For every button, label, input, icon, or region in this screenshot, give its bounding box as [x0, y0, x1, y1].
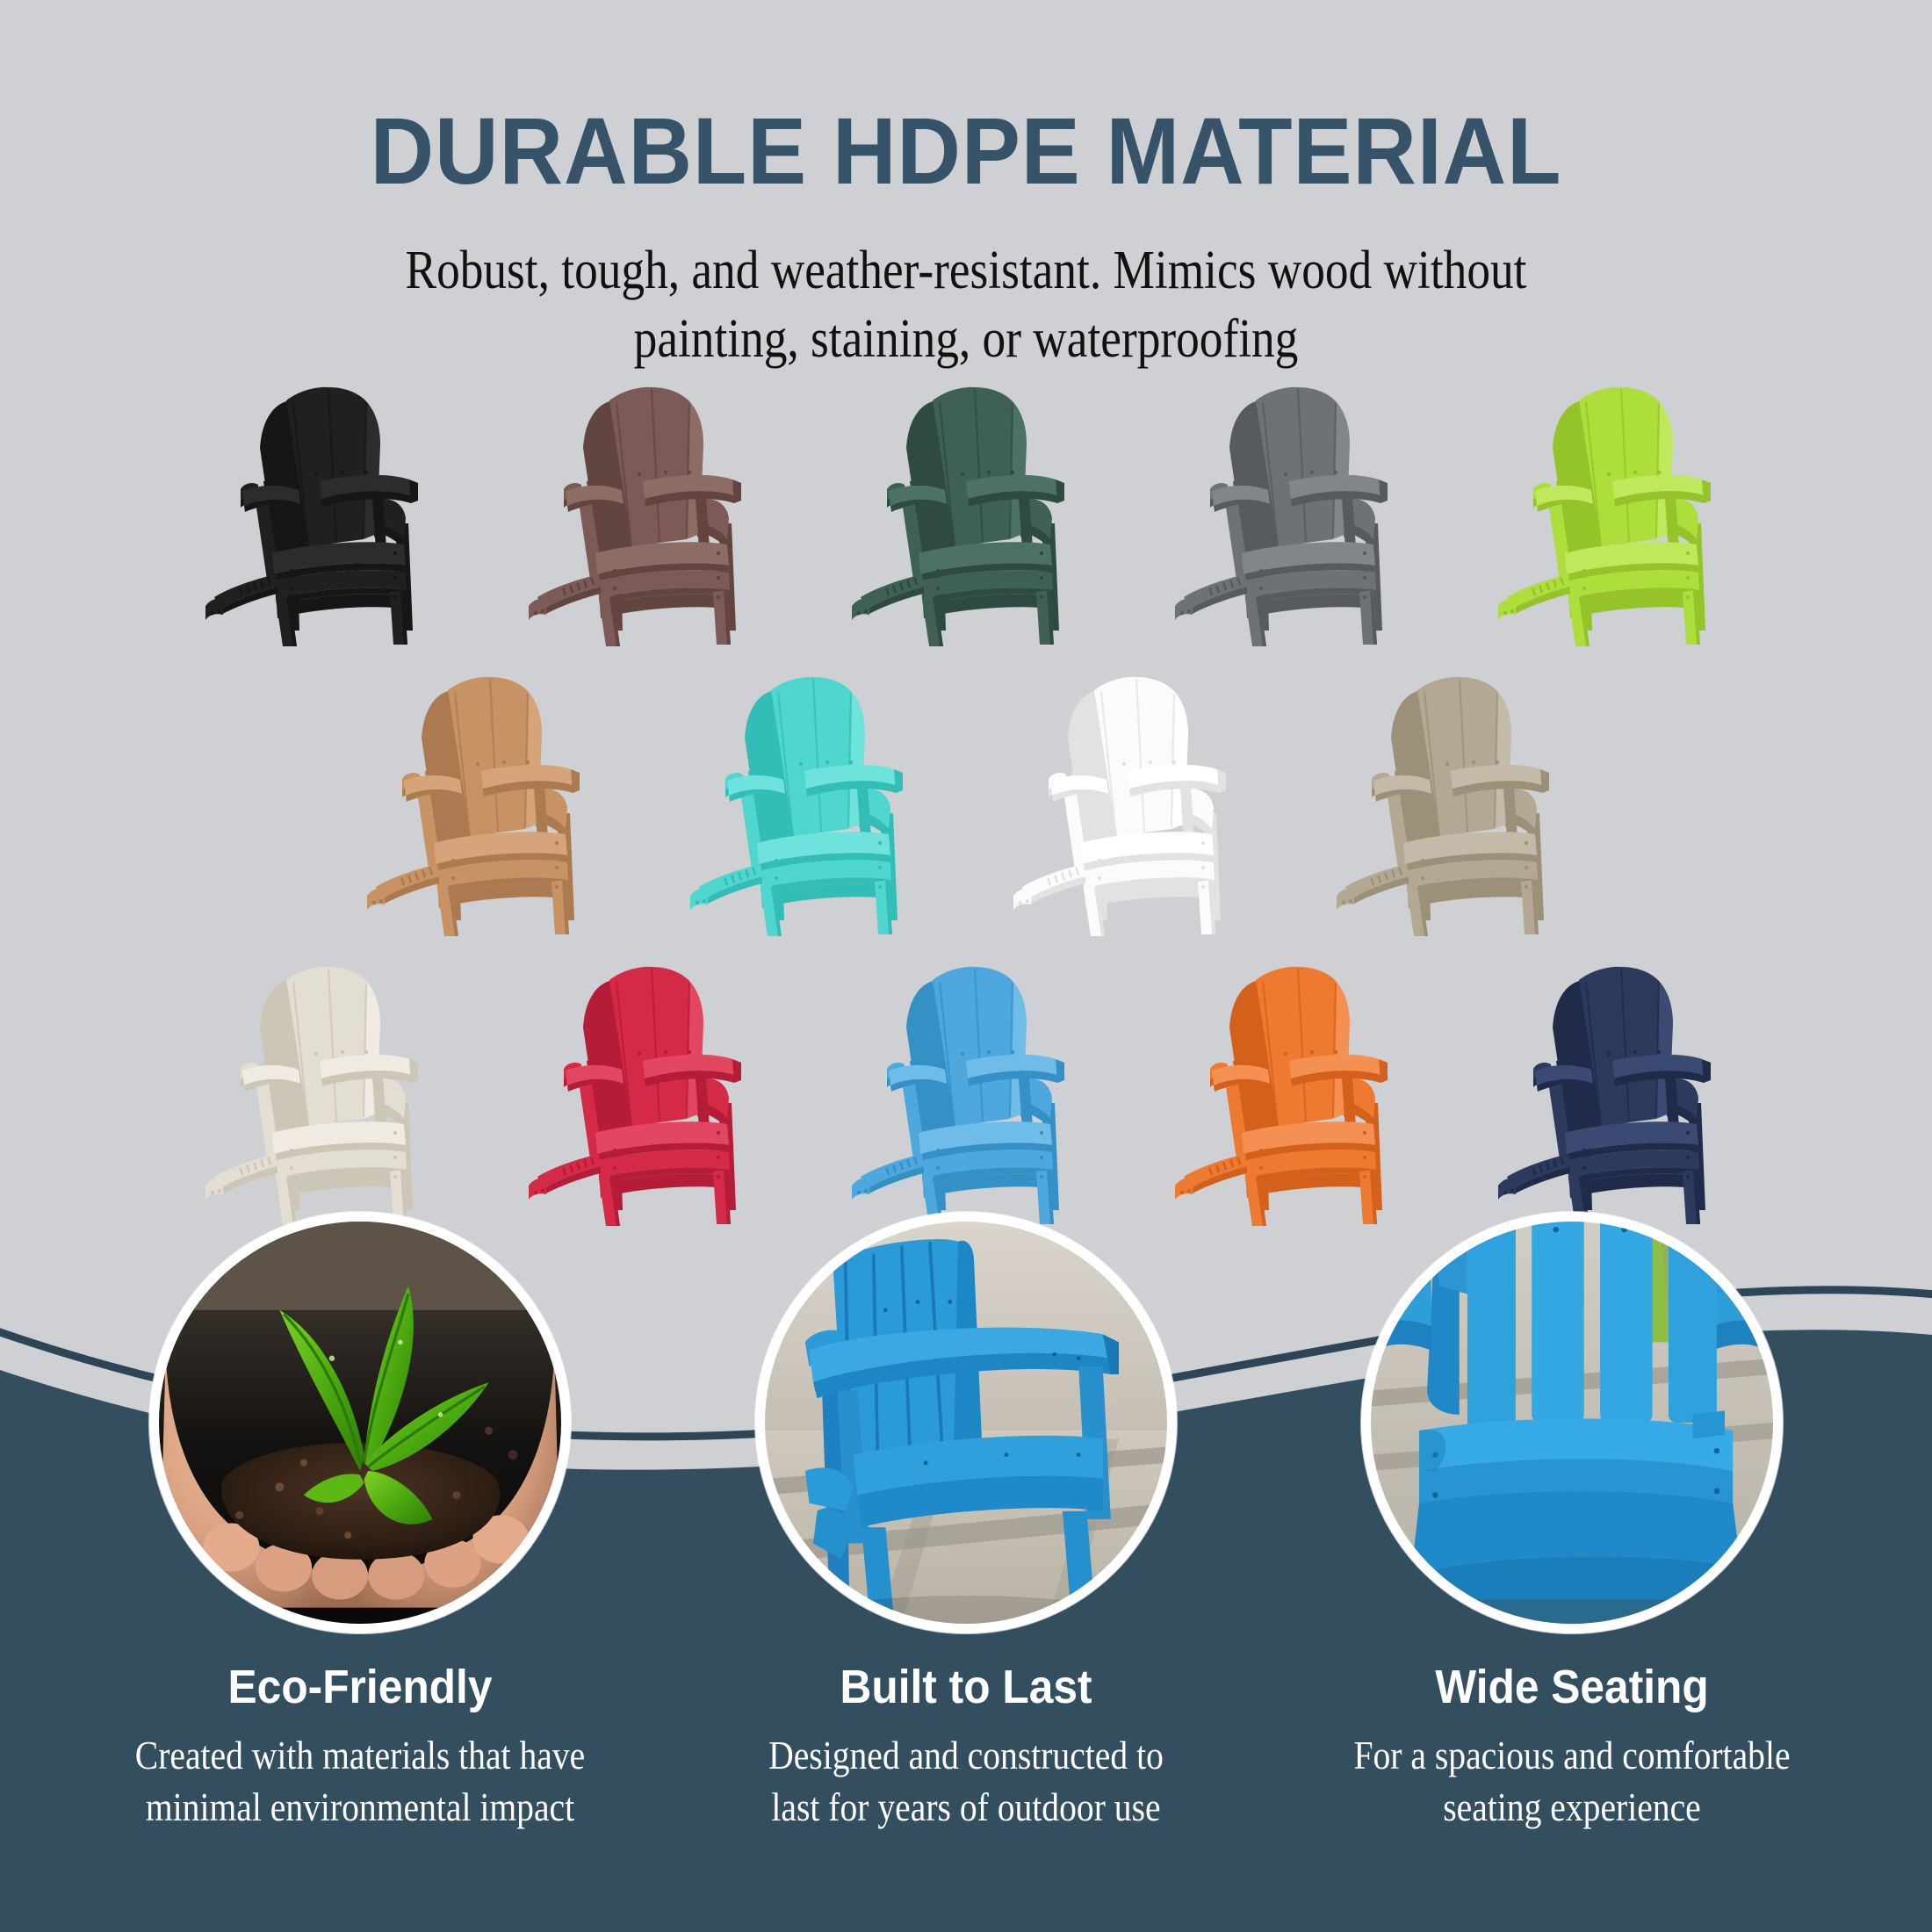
- chair-swatch-white[interactable]: [996, 657, 1259, 938]
- chair-swatch-orange[interactable]: [1157, 947, 1421, 1228]
- chair-swatch-light-blue[interactable]: [834, 947, 1098, 1228]
- chair-swatch-navy-blue[interactable]: [1481, 947, 1744, 1228]
- chair-color-grid: [0, 367, 1932, 1245]
- chair-swatch-dark-green[interactable]: [834, 367, 1098, 648]
- wide-seat-closeup-photo: [1371, 1222, 1773, 1624]
- chair-swatch-brown[interactable]: [511, 367, 775, 648]
- feature-description: For a spacious and comfortable seating e…: [1332, 1730, 1812, 1833]
- chair-swatch-ivory[interactable]: [188, 947, 451, 1228]
- feature-title: Built to Last: [716, 1660, 1216, 1714]
- feature-photo-frame: [149, 1212, 571, 1633]
- chair-row-2: [0, 657, 1932, 938]
- feature-title: Wide Seating: [1322, 1660, 1822, 1714]
- feature-description: Designed and constructed to last for yea…: [726, 1730, 1206, 1833]
- feature-photo-frame: [1361, 1212, 1783, 1633]
- feature-card-wide-seating: Wide Seating For a spacious and comforta…: [1300, 1212, 1844, 1833]
- chair-swatch-red[interactable]: [511, 947, 775, 1228]
- chair-swatch-teak[interactable]: [350, 657, 613, 938]
- chair-swatch-lime-green[interactable]: [1481, 367, 1744, 648]
- chair-swatch-gray[interactable]: [1157, 367, 1421, 648]
- feature-title: Eco-Friendly: [110, 1660, 610, 1714]
- chair-swatch-turquoise[interactable]: [673, 657, 936, 938]
- chair-swatch-black[interactable]: [188, 367, 451, 648]
- page-subtitle: Robust, tough, and weather-resistant. Mi…: [135, 198, 1797, 373]
- chair-row-3: [0, 947, 1932, 1228]
- header-section: DURABLE HDPE MATERIAL Robust, tough, and…: [0, 0, 1932, 351]
- features-section: Eco-Friendly Created with materials that…: [0, 1212, 1932, 1932]
- feature-card-eco-friendly: Eco-Friendly Created with materials that…: [88, 1212, 632, 1833]
- feature-card-built-to-last: Built to Last Designed and constructed t…: [694, 1212, 1238, 1833]
- feature-photo-frame: [755, 1212, 1177, 1633]
- feature-description: Created with materials that have minimal…: [120, 1730, 600, 1833]
- chair-swatch-taupe[interactable]: [1319, 657, 1582, 938]
- hands-seedling-photo: [159, 1222, 561, 1624]
- page-title: DURABLE HDPE MATERIAL: [68, 0, 1864, 198]
- chair-row-1: [0, 367, 1932, 648]
- blue-chair-patio-photo: [765, 1222, 1167, 1624]
